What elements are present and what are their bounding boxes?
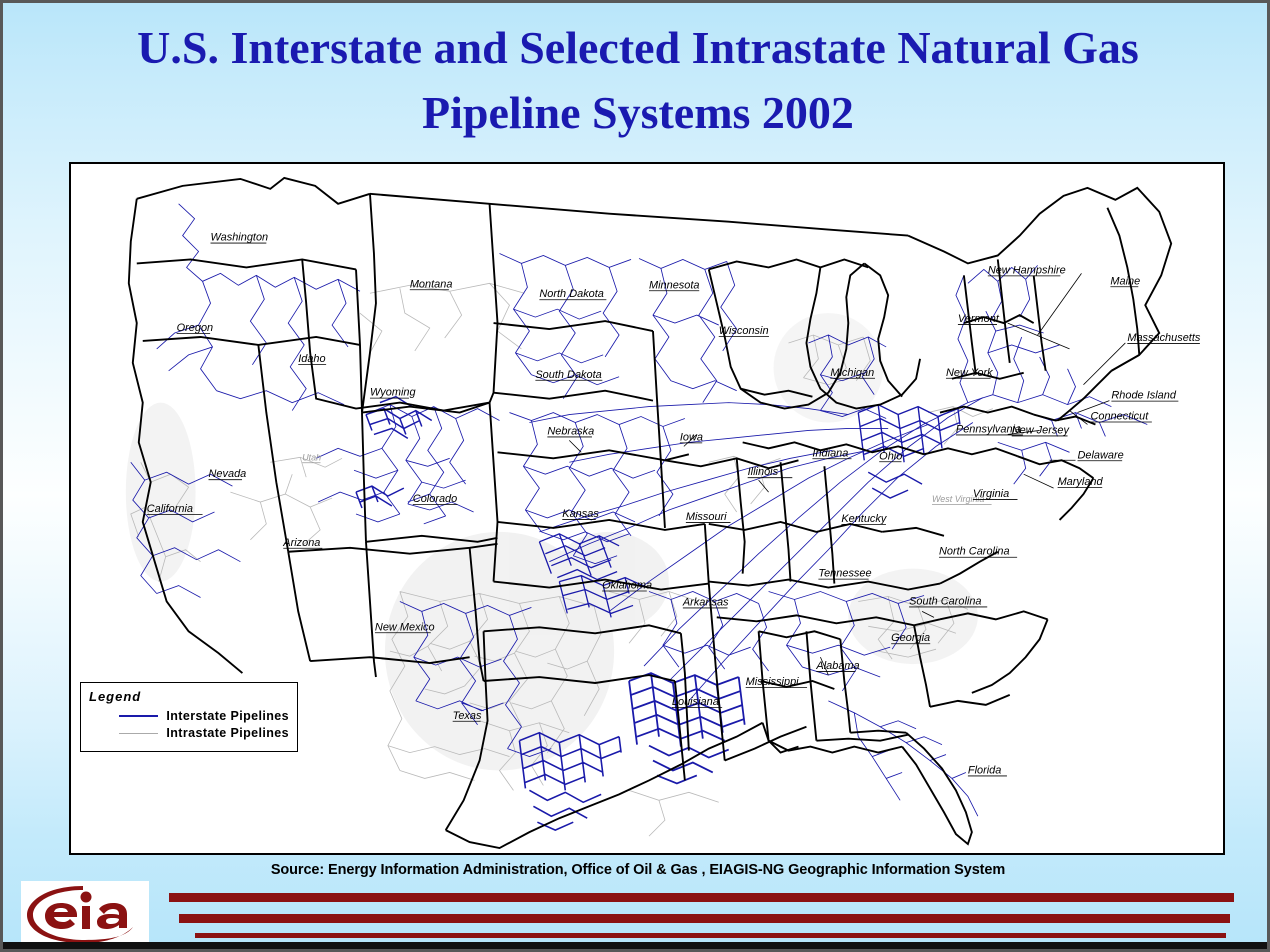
state-label-nevada: Nevada [209,468,247,480]
state-label-texas: Texas [453,710,482,722]
title-line-1: U.S. Interstate and Selected Intrastate … [3,15,1270,80]
state-label-idaho: Idaho [298,353,325,365]
state-label-georgia: Georgia [891,632,930,644]
legend-heading: Legend [89,689,289,704]
state-label-arizona: Arizona [282,537,320,549]
bottom-strip [3,942,1270,949]
eia-logo [21,881,149,947]
page-title: U.S. Interstate and Selected Intrastate … [3,15,1270,146]
state-label-indiana: Indiana [812,447,848,459]
state-label-mississippi: Mississippi [746,676,800,688]
state-label-arkansas: Arkansas [682,596,729,608]
state-label-oklahoma: Oklahoma [602,580,652,592]
state-label-kentucky: Kentucky [841,513,888,525]
state-label-delaware: Delaware [1078,449,1124,461]
state-label-new-jersey: New Jersey [1012,424,1071,436]
state-label-colorado: Colorado [413,493,457,505]
legend-label-intrastate: Intrastate Pipelines [166,726,289,740]
state-label-california: California [147,503,193,515]
state-label-virginia: Virginia [973,488,1009,500]
state-label-florida: Florida [968,764,1001,776]
state-label-wisconsin: Wisconsin [719,325,769,337]
interstate-line-swatch [119,715,158,717]
state-label-ohio: Ohio [879,450,902,462]
legend-item-interstate: Interstate Pipelines [119,709,289,723]
eia-logo-mark [21,881,149,947]
state-label-rhode-island: Rhode Island [1111,390,1176,402]
state-label-north-dakota: North Dakota [539,288,604,300]
state-label-missouri: Missouri [686,511,727,523]
state-label-new-hampshire: New Hampshire [988,264,1066,276]
state-label-kansas: Kansas [562,508,599,520]
source-note: Source: Energy Information Administratio… [3,862,1270,878]
state-label-oregon: Oregon [177,322,214,334]
title-line-2: Pipeline Systems 2002 [3,80,1270,145]
state-label-montana: Montana [410,278,453,290]
state-label-maine: Maine [1110,275,1140,287]
footer-bar-1 [169,893,1234,902]
state-label-iowa: Iowa [680,431,703,443]
footer-bar-3 [195,933,1226,938]
state-label-alabama: Alabama [815,660,859,672]
state-label-new-mexico: New Mexico [375,621,435,633]
state-label-tennessee: Tennessee [818,568,871,580]
state-label-louisiana: Louisiana [672,696,719,708]
state-label-illinois: Illinois [748,466,779,478]
slide-canvas: U.S. Interstate and Selected Intrastate … [0,0,1270,952]
state-label-utah: Utah [302,452,321,462]
state-label-south-dakota: South Dakota [535,369,601,381]
intrastate-line-swatch [119,733,158,734]
state-label-south-carolina: South Carolina [909,595,981,607]
legend-item-intrastate: Intrastate Pipelines [119,726,289,740]
map-legend: Legend Interstate Pipelines Intrastate P… [80,682,298,752]
state-label-massachusetts: Massachusetts [1127,332,1201,344]
state-label-maryland: Maryland [1058,476,1104,488]
state-label-nebraska: Nebraska [547,425,594,437]
state-label-michigan: Michigan [830,367,874,379]
state-label-north-carolina: North Carolina [939,546,1010,558]
state-label-new-york: New York [946,367,993,379]
state-label-washington: Washington [211,232,269,244]
map-frame: WashingtonOregonIdahoMontanaWyomingNorth… [69,162,1225,855]
state-label-minnesota: Minnesota [649,279,700,291]
footer-bar-2 [179,914,1230,923]
state-label-connecticut: Connecticut [1090,411,1149,423]
legend-label-interstate: Interstate Pipelines [166,709,289,723]
state-label-vermont: Vermont [958,313,1000,325]
state-label-wyoming: Wyoming [370,387,416,399]
